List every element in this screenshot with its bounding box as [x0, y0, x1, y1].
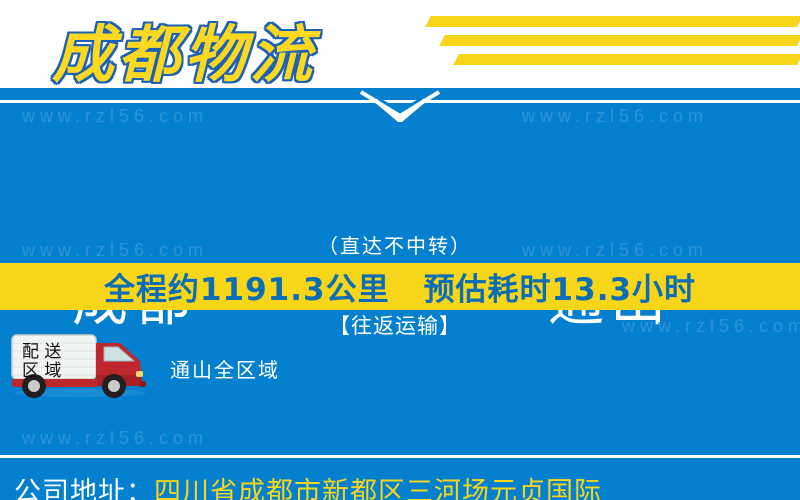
chevron-down-icon [355, 90, 445, 122]
watermark: www.rzl56.com [22, 428, 208, 449]
stripe-2 [439, 35, 800, 46]
company-address-label: 公司地址： [14, 477, 154, 500]
route-note-bottom: 【往返运输】 [290, 310, 500, 340]
watermark: www.rzl56.com [22, 240, 208, 261]
main-panel: www.rzl56.com www.rzl56.com 成都 （直达不中转） 【… [0, 88, 800, 500]
footer-divider [0, 455, 800, 458]
page-title: 成都物流 [52, 4, 316, 94]
duration-value: 预估耗时13.3小时 [424, 264, 697, 309]
company-address: 公司地址：四川省成都市新都区三河场元贞国际 [14, 470, 602, 500]
company-address-value: 四川省成都市新都区三河场元贞国际 [154, 477, 602, 500]
svg-text:配 送: 配 送 [22, 342, 61, 362]
route-note-top: （直达不中转） [290, 230, 500, 259]
watermark: www.rzl56.com [522, 106, 708, 127]
route-stats-band: 全程约1191.3公里 预估耗时13.3小时 [0, 263, 800, 310]
distance-value: 全程约1191.3公里 [104, 264, 390, 309]
coverage-area-label: 通山全区域 [170, 354, 280, 383]
logistics-banner: 成都物流 www.rzl56.com www.rzl56.com 成都 （直达不… [0, 0, 800, 500]
stripe-3 [453, 54, 800, 65]
watermark: www.rzl56.com [22, 106, 208, 127]
banner-header: 成都物流 [0, 0, 800, 88]
svg-text:区 域: 区 域 [22, 361, 61, 381]
diagonal-stripes-icon [410, 14, 800, 76]
watermark: www.rzl56.com [522, 240, 708, 261]
delivery-truck-icon: 配 送 区 域 [8, 331, 158, 399]
stripe-1 [425, 16, 800, 27]
watermark: www.rzl56.com [622, 316, 800, 337]
